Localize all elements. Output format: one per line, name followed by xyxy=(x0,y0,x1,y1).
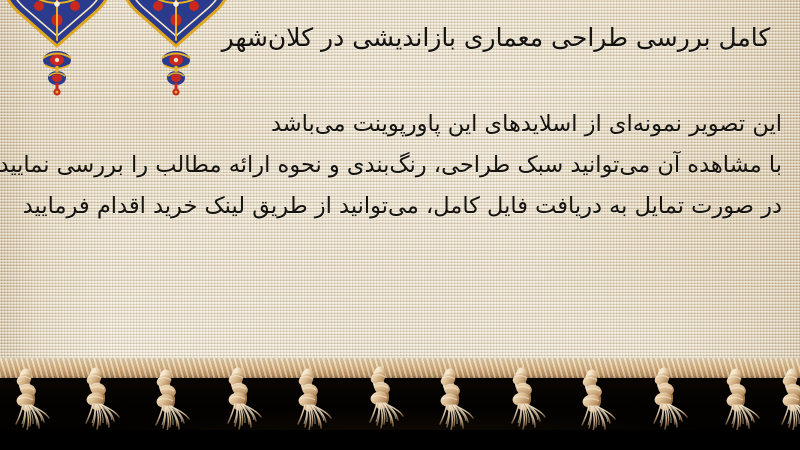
body-line-2: با مشاهده آن می‌توانید سبک طراحی، رنگ‌بن… xyxy=(12,145,788,186)
bottom-black-margin xyxy=(0,430,800,450)
body-line-3: در صورت تمایل به دریافت فایل کامل، می‌تو… xyxy=(12,186,788,227)
slide-title: کامل بررسی طراحی معماری بازاندیشی در کلا… xyxy=(216,22,776,53)
slide-canvas: کامل بررسی طراحی معماری بازاندیشی در کلا… xyxy=(0,0,800,450)
body-line-1: این تصویر نمونه‌ای از اسلایدهای این پاور… xyxy=(12,104,788,145)
slide-body-text: این تصویر نمونه‌ای از اسلایدهای این پاور… xyxy=(12,104,788,227)
